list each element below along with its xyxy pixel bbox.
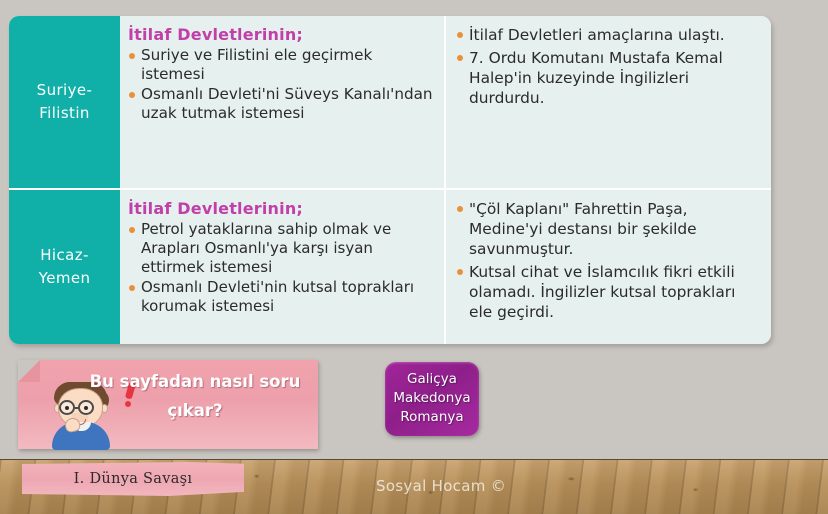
comparison-table: Suriye- Filistin İtilaf Devletlerinin; S…	[9, 16, 771, 344]
list-item: Osmanlı Devleti'nin kutsal toprakları ko…	[128, 278, 436, 316]
list-item: Osmanlı Devleti'ni Süveys Kanalı'ndan uz…	[128, 85, 436, 123]
purple-topics-box[interactable]: Galiçya Makedonya Romanya	[385, 362, 479, 436]
list-item: Petrol yataklarına sahip olmak ve Arapla…	[128, 220, 436, 277]
row-label-hicaz-yemen: Hicaz- Yemen	[9, 190, 120, 344]
results-list: İtilaf Devletleri amaçlarına ulaştı. 7. …	[456, 25, 761, 108]
question-line-2: çıkar?	[76, 397, 314, 426]
results-list: "Çöl Kaplanı" Fahrettin Paşa, Medine'yi …	[456, 199, 761, 322]
causes-list: Petrol yataklarına sahip olmak ve Arapla…	[128, 220, 436, 315]
causes-heading: İtilaf Devletlerinin;	[128, 199, 436, 218]
row-label-line1: Hicaz-	[39, 244, 91, 267]
table-row: Suriye- Filistin İtilaf Devletlerinin; S…	[9, 16, 771, 188]
list-item: 7. Ordu Komutanı Mustafa Kemal Halep'in …	[456, 48, 761, 108]
question-line-1: Bu sayfadan nasıl soru	[76, 368, 314, 397]
causes-list: Suriye ve Filistini ele geçirmek istemes…	[128, 46, 436, 124]
causes-heading: İtilaf Devletlerinin;	[128, 25, 436, 44]
purple-topic-makedonya: Makedonya	[393, 390, 470, 408]
list-item: İtilaf Devletleri amaçlarına ulaştı.	[456, 25, 761, 45]
list-item: "Çöl Kaplanı" Fahrettin Paşa, Medine'yi …	[456, 199, 761, 259]
row-label-line2: Yemen	[39, 267, 91, 290]
row-label-line2: Filistin	[37, 102, 93, 125]
watermark: Sosyal Hocam ©	[376, 477, 506, 495]
list-item: Suriye ve Filistini ele geçirmek istemes…	[128, 46, 436, 84]
table-row: Hicaz- Yemen İtilaf Devletlerinin; Petro…	[9, 188, 771, 344]
purple-topic-romanya: Romanya	[400, 409, 463, 427]
purple-topic-galicya: Galiçya	[407, 371, 457, 389]
row-causes-cell: İtilaf Devletlerinin; Petrol yataklarına…	[120, 190, 446, 344]
footer-title-banner: I. Dünya Savaşı	[22, 462, 244, 496]
list-item: Kutsal cihat ve İslamcılık fikri etkili …	[456, 262, 761, 322]
row-results-cell: "Çöl Kaplanı" Fahrettin Paşa, Medine'yi …	[446, 190, 771, 344]
footer-title-text: I. Dünya Savaşı	[74, 471, 193, 487]
question-banner: Bu sayfadan nasıl soru çıkar?	[18, 360, 318, 449]
question-banner-text: Bu sayfadan nasıl soru çıkar?	[76, 368, 314, 426]
row-causes-cell: İtilaf Devletlerinin; Suriye ve Filistin…	[120, 16, 446, 188]
row-results-cell: İtilaf Devletleri amaçlarına ulaştı. 7. …	[446, 16, 771, 188]
row-label-line1: Suriye-	[37, 79, 93, 102]
row-label-suriye-filistin: Suriye- Filistin	[9, 16, 120, 188]
